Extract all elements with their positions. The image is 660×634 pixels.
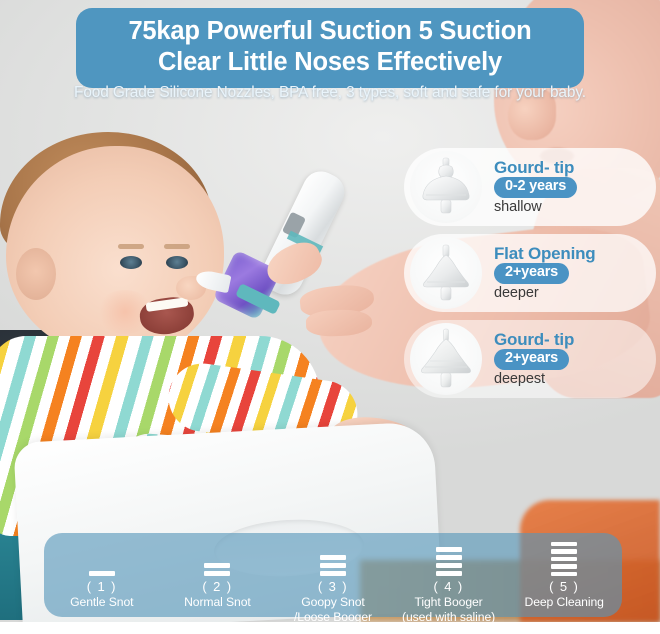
suction-level-label: Normal Snot	[160, 595, 276, 610]
nozzle-card-text: Gourd- tip 0-2 years shallow	[494, 159, 577, 216]
suction-level-number: ( 3 )	[275, 579, 391, 595]
gourd-tip-nozzle-icon	[410, 151, 482, 223]
suction-level-number: ( 1 )	[44, 579, 160, 595]
nozzle-thumbnail	[410, 323, 482, 395]
suction-strength-indicator-3	[275, 542, 391, 576]
product-infographic: 75kap Powerful Suction 5 Suction Clear L…	[0, 0, 660, 634]
subheadline-text: Food Grade Silicone Nozzles, BPA free, 3…	[0, 84, 660, 102]
suction-level-2: ( 2 ) Normal Snot	[160, 542, 276, 610]
headline-banner: 75kap Powerful Suction 5 Suction Clear L…	[76, 8, 584, 88]
nozzle-thumbnail	[410, 237, 482, 309]
flat-opening-nozzle-icon	[410, 237, 482, 309]
headline-line-1: 75kap Powerful Suction 5 Suction	[86, 16, 574, 47]
nozzle-card-text: Gourd- tip 2+years deepest	[494, 331, 574, 388]
suction-level-number: ( 5 )	[506, 579, 622, 595]
suction-level-bar: ( 1 ) Gentle Snot ( 2 ) Normal Snot ( 3 …	[44, 533, 622, 617]
gourd-tip-deep-nozzle-icon	[410, 323, 482, 395]
suction-strength-indicator-5	[506, 542, 622, 576]
suction-level-number: ( 2 )	[160, 579, 276, 595]
nozzle-thumbnail	[410, 151, 482, 223]
suction-level-3: ( 3 ) Goopy Snot /Loose Booger	[275, 542, 391, 625]
nozzle-age-badge: 2+years	[494, 349, 569, 369]
suction-level-label: Tight Booger (used with saline)	[391, 595, 507, 625]
suction-strength-indicator-1	[44, 542, 160, 576]
nozzle-depth-label: shallow	[494, 199, 577, 216]
nozzle-type-cards: Gourd- tip 0-2 years shallow	[404, 148, 656, 406]
suction-level-1: ( 1 ) Gentle Snot	[44, 542, 160, 610]
suction-level-number: ( 4 )	[391, 579, 507, 595]
suction-level-5: ( 5 ) Deep Cleaning	[506, 542, 622, 610]
baby-ear	[16, 248, 56, 300]
baby-eye-left	[120, 256, 142, 269]
headline-line-2: Clear Little Noses Effectively	[86, 47, 574, 78]
nozzle-card-text: Flat Opening 2+years deeper	[494, 245, 595, 302]
nozzle-card-gourd-tip-deepest: Gourd- tip 2+years deepest	[404, 320, 656, 398]
baby-eye-right	[166, 256, 188, 269]
suction-strength-indicator-2	[160, 542, 276, 576]
suction-level-label: Gentle Snot	[44, 595, 160, 610]
suction-level-label: Goopy Snot /Loose Booger	[275, 595, 391, 625]
nozzle-title: Gourd- tip	[494, 331, 574, 349]
baby-eyebrow-right	[164, 244, 190, 249]
nozzle-age-badge: 0-2 years	[494, 177, 577, 197]
suction-level-label: Deep Cleaning	[506, 595, 622, 610]
nozzle-depth-label: deepest	[494, 371, 574, 388]
baby-eyebrow-left	[118, 244, 144, 249]
nozzle-depth-label: deeper	[494, 285, 595, 302]
nozzle-card-gourd-tip-shallow: Gourd- tip 0-2 years shallow	[404, 148, 656, 226]
nozzle-title: Flat Opening	[494, 245, 595, 263]
nozzle-card-flat-opening-deeper: Flat Opening 2+years deeper	[404, 234, 656, 312]
nozzle-title: Gourd- tip	[494, 159, 577, 177]
nozzle-age-badge: 2+years	[494, 263, 569, 283]
suction-level-4: ( 4 ) Tight Booger (used with saline)	[391, 542, 507, 625]
suction-strength-indicator-4	[391, 542, 507, 576]
